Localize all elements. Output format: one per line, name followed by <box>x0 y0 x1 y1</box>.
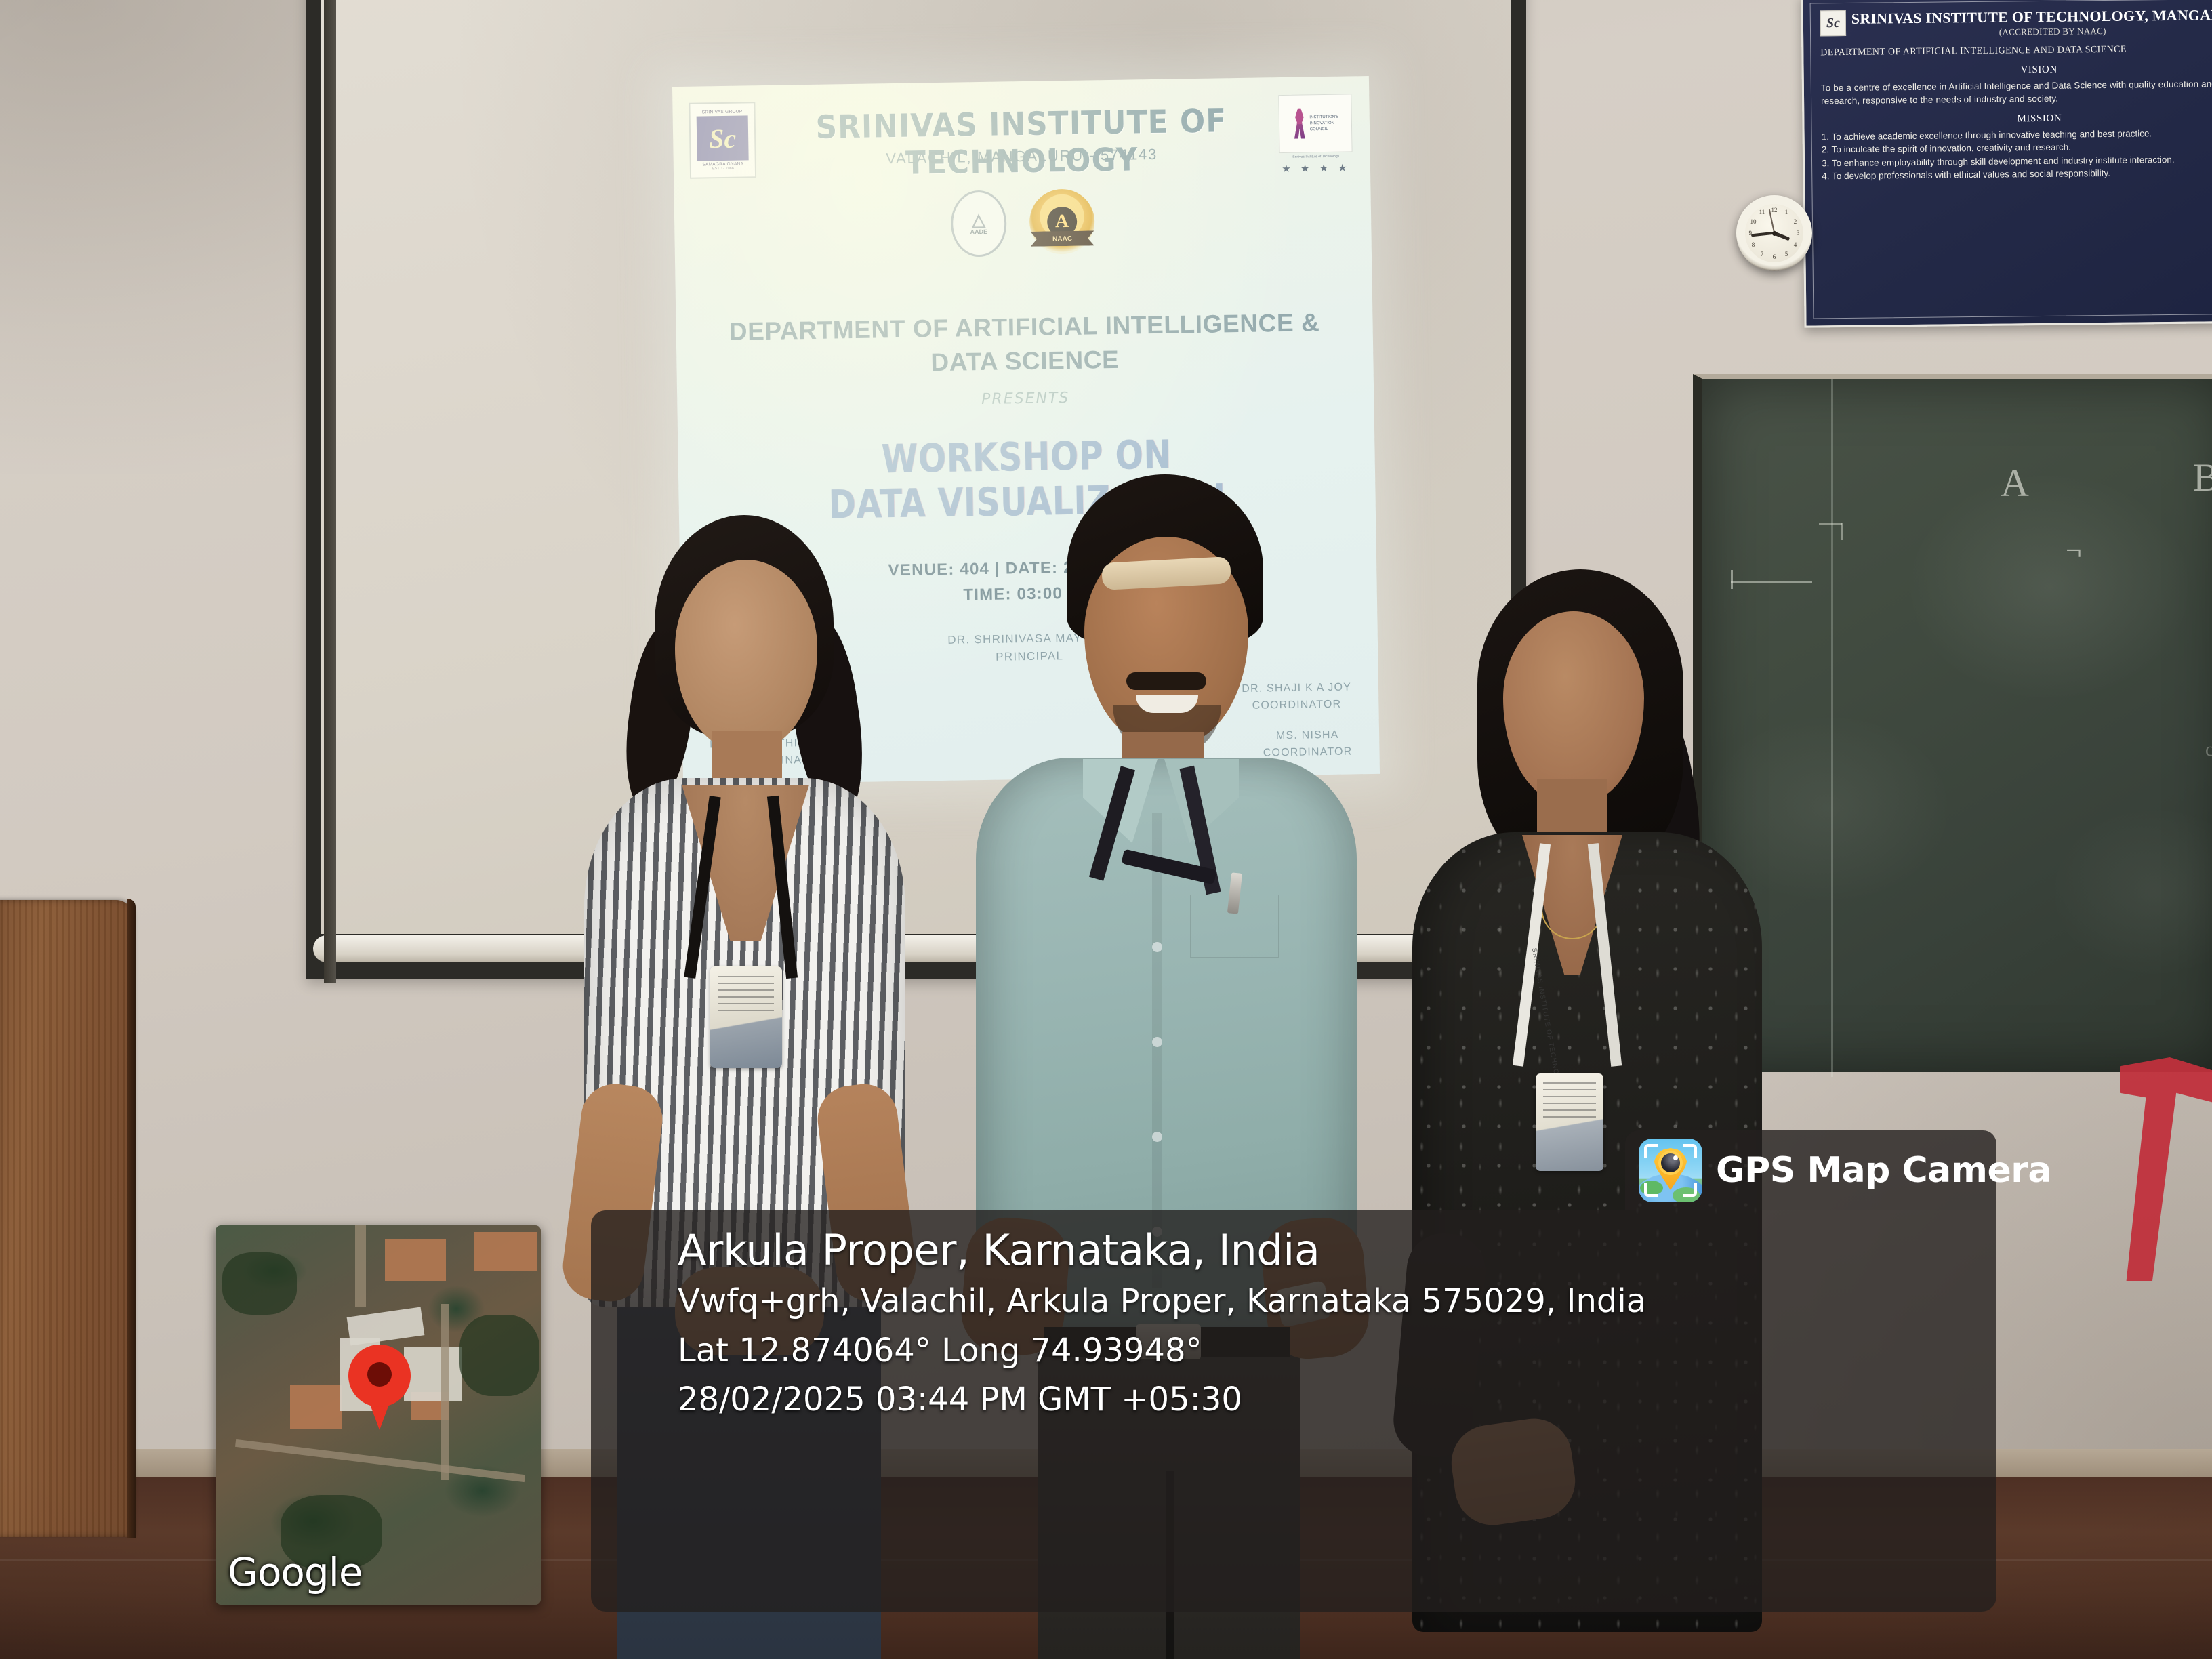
viewfinder-bracket-bottom-right-icon <box>1683 1183 1697 1197</box>
chalk-arrow-mark: ¬ <box>2066 535 2082 567</box>
chalkboard-tick-vertical-2 <box>1841 523 1843 540</box>
map-building-3 <box>404 1347 462 1401</box>
clock-number-8: 8 <box>1752 241 1755 248</box>
poster-department: DEPARTMENT OF ARTIFICIAL INTELLIGENCE AN… <box>1820 43 2212 59</box>
photograph: SRINIVAS GROUP Sc SAMAGRA GNANA ESTD - 1… <box>0 0 2212 1659</box>
poster-title: SRINIVAS INSTITUTE OF TECHNOLOGY, MANGAL… <box>1851 6 2212 28</box>
map-road-horizontal <box>235 1439 525 1482</box>
wooden-panel <box>0 900 134 1537</box>
viewfinder-bracket-top-right-icon <box>1683 1144 1697 1158</box>
vision-mission-poster: Sc SRINIVAS INSTITUTE OF TECHNOLOGY, MAN… <box>1801 0 2212 328</box>
wooden-panel-edge <box>127 899 136 1538</box>
chalk-word-mark: cho <box>2205 739 2212 761</box>
person-center-shirt-button-3 <box>1152 1132 1162 1142</box>
arde-badge-icon: △ AADE <box>950 190 1007 257</box>
person-center-moustache <box>1126 672 1206 690</box>
poster-vision-text: To be a centre of excellence in Artifici… <box>1821 77 2212 108</box>
viewfinder-bracket-bottom-left-icon <box>1644 1183 1658 1197</box>
naac-badge-icon: A NAAC <box>1029 188 1094 254</box>
gps-address-line: Vwfq+grh, Valachil, Arkula Proper, Karna… <box>678 1280 1969 1322</box>
accreditation-badges: △ AADE A NAAC <box>674 184 1371 262</box>
clock-number-4: 4 <box>1794 241 1797 248</box>
chalk-letter-a: A <box>2001 460 2029 506</box>
gps-coordinates: Lat 12.874064° Long 74.93948° <box>678 1330 1969 1372</box>
clock-number-1: 1 <box>1785 209 1788 216</box>
clock-minute-hand <box>1751 232 1774 237</box>
clock-number-3: 3 <box>1797 230 1800 237</box>
gps-text-block: Arkula Proper, Karnataka, India Vwfq+grh… <box>678 1225 1969 1420</box>
clock-number-12: 12 <box>1771 207 1778 213</box>
clock-number-11: 11 <box>1759 209 1765 216</box>
clock-number-6: 6 <box>1773 253 1776 260</box>
gps-satellite-map-thumbnail[interactable]: Google <box>216 1225 541 1605</box>
map-field-patch-3 <box>385 1239 446 1281</box>
clock-number-2: 2 <box>1794 218 1797 225</box>
person-center-shirt-button-1 <box>1152 942 1162 952</box>
clock-number-7: 7 <box>1761 251 1764 258</box>
person-center-smile <box>1136 695 1198 713</box>
person-left-face <box>675 560 817 751</box>
map-tree-cluster-2 <box>459 1315 539 1396</box>
wall-clock: 12 1 2 3 4 5 6 7 8 9 10 11 <box>1736 195 1812 271</box>
clock-face: 12 1 2 3 4 5 6 7 8 9 10 11 <box>1745 204 1803 262</box>
slide-institute-name: SRINIVAS INSTITUTE OF TECHNOLOGY <box>697 101 1347 186</box>
poster-vision-heading: VISION <box>1821 62 2212 79</box>
person-right-id-badge <box>1536 1073 1603 1171</box>
gps-city-line: Arkula Proper, Karnataka, India <box>678 1225 1969 1275</box>
clock-number-10: 10 <box>1750 218 1757 225</box>
map-road-vertical <box>355 1225 366 1307</box>
wood-grain-texture <box>0 900 134 1537</box>
viewfinder-bracket-top-left-icon <box>1644 1144 1658 1158</box>
naac-ribbon-label: NAAC <box>1030 230 1094 246</box>
map-pin-center-dot <box>367 1362 392 1387</box>
arde-triangle-icon: △ <box>972 212 985 228</box>
person-right-face <box>1503 611 1644 802</box>
slide-department: DEPARTMENT OF ARTIFICIAL INTELLIGENCE & … <box>715 306 1334 384</box>
gps-app-name: GPS Map Camera <box>1716 1150 2051 1191</box>
person-left-id-badge <box>710 966 782 1068</box>
poster-mission-heading: MISSION <box>1821 111 2212 127</box>
chalkboard-seam <box>1831 379 1833 1077</box>
gps-info-panel: Arkula Proper, Karnataka, India Vwfq+grh… <box>591 1210 1996 1612</box>
clock-center-pin <box>1772 231 1777 236</box>
gps-timestamp: 28/02/2025 03:44 PM GMT +05:30 <box>678 1378 1969 1420</box>
map-location-pin-icon <box>348 1345 411 1429</box>
map-road-vertical-2 <box>441 1304 449 1480</box>
gps-map-camera-app-icon <box>1639 1139 1702 1202</box>
slide-presents-word: PRESENTS <box>677 385 1374 413</box>
chalk-letter-b: B <box>2193 455 2212 500</box>
poster-inner-border: Sc SRINIVAS INSTITUTE OF TECHNOLOGY, MAN… <box>1810 0 2212 319</box>
arde-badge-label: AADE <box>970 228 988 235</box>
clock-number-5: 5 <box>1785 251 1788 258</box>
screen-left-rail <box>324 0 336 983</box>
poster-header: Sc SRINIVAS INSTITUTE OF TECHNOLOGY, MAN… <box>1820 6 2212 40</box>
chalkboard-tick-horizontal-2 <box>1819 523 1842 525</box>
map-field-patch-1 <box>290 1385 342 1429</box>
map-tree-cluster-1 <box>222 1252 297 1315</box>
poster-institute-logo: Sc <box>1820 10 1846 36</box>
person-right-id-badge-text <box>1543 1082 1596 1118</box>
google-watermark: Google <box>228 1549 363 1595</box>
map-field-patch-4 <box>474 1232 537 1271</box>
gps-map-camera-brand-bar: GPS Map Camera <box>1625 1130 1996 1210</box>
camera-lens-icon <box>1661 1153 1680 1172</box>
person-center-shirt-button-2 <box>1152 1037 1162 1047</box>
person-left-id-badge-text <box>718 976 774 1014</box>
